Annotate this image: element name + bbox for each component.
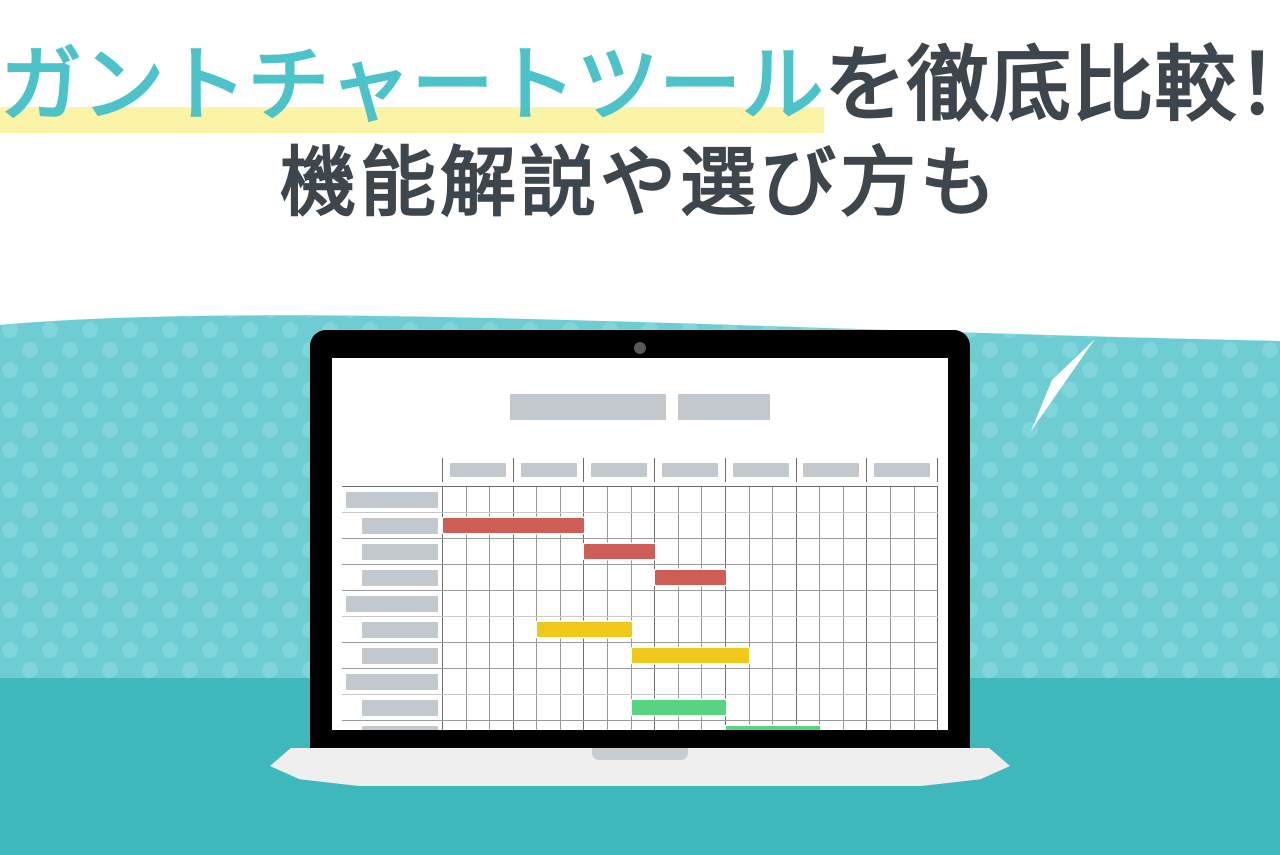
gantt-cell: [915, 721, 939, 730]
gantt-cell: [584, 565, 608, 590]
gantt-row-label: [342, 565, 442, 590]
gantt-bar[interactable]: [632, 648, 750, 663]
gantt-chart: [342, 458, 938, 730]
gantt-cell: [443, 565, 467, 590]
gantt-row-track: [442, 721, 938, 730]
gantt-cell: [490, 565, 514, 590]
gantt-cell: [632, 591, 656, 616]
gantt-row-label: [342, 617, 442, 642]
gantt-cell: [514, 695, 538, 720]
gantt-task-row[interactable]: [342, 721, 938, 730]
gantt-cell: [561, 643, 585, 668]
gantt-cell: [467, 643, 491, 668]
gantt-group-row[interactable]: [342, 669, 938, 695]
gantt-cell: [655, 539, 679, 564]
headline-highlight: ガントチャートツール: [0, 40, 824, 133]
laptop-screen: [332, 358, 948, 730]
gantt-cell: [750, 487, 774, 512]
gantt-cell: [679, 617, 703, 642]
laptop-lid: [310, 330, 970, 752]
gantt-cell: [537, 487, 561, 512]
gantt-row-label-chip-group-1: [346, 492, 438, 508]
gantt-group-row[interactable]: [342, 487, 938, 513]
gantt-cell: [702, 591, 726, 616]
gantt-cell: [443, 617, 467, 642]
gantt-cell: [891, 669, 915, 694]
gantt-cell: [867, 643, 891, 668]
gantt-cell: [702, 721, 726, 730]
gantt-cell: [490, 695, 514, 720]
gantt-cell: [750, 539, 774, 564]
gantt-cell: [584, 487, 608, 512]
headline: ガントチャートツールを徹底比較！ 機能解説や選び方も: [0, 38, 1280, 229]
gantt-bar[interactable]: [537, 622, 631, 637]
gantt-cell: [702, 513, 726, 538]
gantt-cell: [773, 539, 797, 564]
gantt-cell: [608, 721, 632, 730]
gantt-header-chip-period-7: [874, 463, 930, 477]
gantt-row-track: [442, 539, 938, 564]
gantt-cell: [561, 721, 585, 730]
gantt-cell: [561, 539, 585, 564]
gantt-cell: [467, 565, 491, 590]
gantt-cell: [797, 669, 821, 694]
gantt-header-cell: [797, 458, 868, 482]
gantt-cell: [443, 695, 467, 720]
gantt-header-chip-period-3: [591, 463, 647, 477]
gantt-cell: [750, 591, 774, 616]
gantt-task-row[interactable]: [342, 695, 938, 721]
gantt-cell: [820, 591, 844, 616]
gantt-cell: [820, 669, 844, 694]
gantt-cell: [773, 695, 797, 720]
gantt-cell: [467, 617, 491, 642]
gantt-cell: [726, 591, 750, 616]
gantt-cell: [514, 591, 538, 616]
gantt-cell: [844, 643, 868, 668]
gantt-row-label-chip-group-3: [346, 674, 438, 690]
gantt-header-cell: [514, 458, 585, 482]
gantt-cell: [655, 591, 679, 616]
gantt-cell: [820, 617, 844, 642]
gantt-cell: [467, 695, 491, 720]
gantt-cell: [561, 487, 585, 512]
gantt-cell: [702, 539, 726, 564]
gantt-cell: [608, 591, 632, 616]
gantt-cell: [632, 669, 656, 694]
gantt-cell: [891, 643, 915, 668]
gantt-cell: [820, 487, 844, 512]
gantt-cell: [891, 565, 915, 590]
gantt-row-label: [342, 591, 442, 616]
gantt-row-label: [342, 695, 442, 720]
gantt-cell: [490, 591, 514, 616]
gantt-cell: [891, 591, 915, 616]
gantt-cell: [773, 487, 797, 512]
gantt-row-label-chip-task-1-3: [362, 570, 438, 586]
gantt-cell: [443, 643, 467, 668]
gantt-cell: [702, 617, 726, 642]
gantt-header: [342, 458, 938, 486]
gantt-cell: [655, 721, 679, 730]
gantt-cell: [915, 617, 939, 642]
gantt-cell: [915, 591, 939, 616]
gantt-cell: [490, 669, 514, 694]
gantt-cell: [584, 721, 608, 730]
gantt-header-chip-period-6: [803, 463, 859, 477]
gantt-header-chip-period-4: [662, 463, 718, 477]
gantt-row-label: [342, 487, 442, 512]
gantt-header-cell: [655, 458, 726, 482]
gantt-cell: [679, 721, 703, 730]
gantt-cell: [915, 643, 939, 668]
gantt-row-track: [442, 669, 938, 694]
gantt-cell: [915, 513, 939, 538]
gantt-cell: [537, 643, 561, 668]
gantt-cell: [726, 669, 750, 694]
gantt-cell: [773, 591, 797, 616]
gantt-row-label: [342, 643, 442, 668]
gantt-rows: [342, 486, 938, 730]
gantt-cell: [584, 513, 608, 538]
gantt-cell: [915, 565, 939, 590]
gantt-cell: [443, 539, 467, 564]
gantt-cell: [867, 669, 891, 694]
gantt-cell: [561, 565, 585, 590]
gantt-cell: [655, 487, 679, 512]
headline-line-1-rest: を徹底比較！: [824, 40, 1280, 131]
gantt-cell: [915, 695, 939, 720]
title-placeholder: [510, 394, 666, 420]
gantt-cell: [490, 617, 514, 642]
gantt-cell: [514, 643, 538, 668]
gantt-row-track: [442, 591, 938, 616]
gantt-cell: [679, 513, 703, 538]
gantt-cell: [443, 669, 467, 694]
gantt-header-cell: [726, 458, 797, 482]
gantt-cell: [773, 669, 797, 694]
gantt-cell: [867, 487, 891, 512]
gantt-cell: [608, 487, 632, 512]
gantt-cell: [844, 513, 868, 538]
gantt-cell: [867, 565, 891, 590]
gantt-cell: [867, 695, 891, 720]
gantt-cell: [632, 513, 656, 538]
gantt-cell: [514, 721, 538, 730]
gantt-cell: [467, 591, 491, 616]
headline-line-2: 機能解説や選び方も: [0, 139, 1280, 229]
gantt-cell: [726, 695, 750, 720]
gantt-header-cell: [443, 458, 514, 482]
gantt-cell: [490, 539, 514, 564]
gantt-cell: [608, 669, 632, 694]
gantt-cell: [844, 669, 868, 694]
gantt-cell: [537, 591, 561, 616]
gantt-cell: [702, 669, 726, 694]
gantt-cell: [820, 643, 844, 668]
screen-header-placeholders: [332, 394, 948, 420]
subtitle-placeholder: [678, 394, 770, 420]
gantt-task-row[interactable]: [342, 643, 938, 669]
gantt-cell: [844, 539, 868, 564]
gantt-cell: [844, 487, 868, 512]
gantt-cell: [655, 513, 679, 538]
gantt-bar[interactable]: [655, 570, 726, 585]
gantt-cell: [844, 695, 868, 720]
laptop-base-notch: [592, 748, 688, 760]
gantt-cell: [702, 487, 726, 512]
gantt-task-row[interactable]: [342, 617, 938, 643]
gantt-cell: [679, 539, 703, 564]
gantt-cell: [797, 539, 821, 564]
gantt-row-track: [442, 643, 938, 668]
gantt-cell: [584, 695, 608, 720]
gantt-cell: [797, 591, 821, 616]
gantt-cell: [820, 513, 844, 538]
gantt-cell: [867, 721, 891, 730]
gantt-cell: [443, 487, 467, 512]
gantt-cell: [490, 643, 514, 668]
gantt-cell: [726, 487, 750, 512]
gantt-cell: [867, 539, 891, 564]
gantt-row-label: [342, 513, 442, 538]
gantt-cell: [679, 591, 703, 616]
gantt-cell: [514, 539, 538, 564]
gantt-cell: [537, 669, 561, 694]
gantt-cell: [584, 643, 608, 668]
gantt-cell: [561, 695, 585, 720]
gantt-task-row[interactable]: [342, 539, 938, 565]
gantt-cell: [797, 565, 821, 590]
gantt-row-label-chip-group-2: [346, 596, 438, 612]
gantt-bar[interactable]: [584, 544, 655, 559]
gantt-group-row[interactable]: [342, 591, 938, 617]
gantt-header-cell: [867, 458, 938, 482]
gantt-cell: [608, 565, 632, 590]
gantt-cell: [584, 669, 608, 694]
gantt-cell: [443, 721, 467, 730]
gantt-cell: [844, 721, 868, 730]
gantt-cell: [750, 565, 774, 590]
gantt-cell: [467, 487, 491, 512]
gantt-cell: [750, 617, 774, 642]
gantt-header-cell: [584, 458, 655, 482]
gantt-task-row[interactable]: [342, 513, 938, 539]
gantt-cell: [867, 591, 891, 616]
gantt-cell: [915, 539, 939, 564]
gantt-cell: [726, 565, 750, 590]
gantt-cell: [797, 617, 821, 642]
headline-line-1: ガントチャートツールを徹底比較！: [0, 38, 1280, 133]
gantt-cell: [514, 669, 538, 694]
gantt-cell: [490, 487, 514, 512]
gantt-header-chip-period-1: [450, 463, 506, 477]
gantt-cell: [820, 565, 844, 590]
gantt-cell: [750, 695, 774, 720]
gantt-cell: [537, 565, 561, 590]
gantt-cell: [750, 643, 774, 668]
gantt-cell: [726, 513, 750, 538]
gantt-cell: [915, 669, 939, 694]
gantt-cell: [797, 513, 821, 538]
gantt-row-label-chip-task-1-2: [362, 544, 438, 560]
laptop-mockup: [310, 330, 970, 760]
gantt-cell: [750, 513, 774, 538]
gantt-cell: [561, 669, 585, 694]
gantt-cell: [467, 721, 491, 730]
gantt-cell: [514, 565, 538, 590]
gantt-row-label: [342, 669, 442, 694]
gantt-cell: [655, 617, 679, 642]
gantt-cell: [891, 721, 915, 730]
gantt-cell: [820, 539, 844, 564]
gantt-cell: [750, 669, 774, 694]
gantt-cell: [514, 487, 538, 512]
gantt-cell: [537, 695, 561, 720]
gantt-row-label-chip-task-3-1: [362, 700, 438, 716]
gantt-row-track: [442, 695, 938, 720]
gantt-cell: [797, 487, 821, 512]
gantt-cell: [891, 539, 915, 564]
gantt-cell: [797, 643, 821, 668]
gantt-row-label-chip-task-2-1: [362, 622, 438, 638]
gantt-row-track: [442, 487, 938, 512]
gantt-cell: [726, 539, 750, 564]
gantt-cell: [467, 539, 491, 564]
gantt-cell: [608, 695, 632, 720]
gantt-cell: [844, 617, 868, 642]
gantt-header-chip-period-2: [521, 463, 577, 477]
gantt-cell: [561, 591, 585, 616]
gantt-cell: [679, 487, 703, 512]
gantt-task-row[interactable]: [342, 565, 938, 591]
gantt-cell: [891, 617, 915, 642]
gantt-cell: [844, 565, 868, 590]
gantt-cell: [773, 513, 797, 538]
gantt-cell: [655, 669, 679, 694]
gantt-bar[interactable]: [443, 518, 584, 533]
gantt-cell: [632, 721, 656, 730]
gantt-cell: [820, 695, 844, 720]
gantt-row-track: [442, 617, 938, 642]
gantt-cell: [773, 617, 797, 642]
gantt-row-label-chip-task-2-2: [362, 648, 438, 664]
gantt-cell: [867, 617, 891, 642]
gantt-cell: [443, 591, 467, 616]
gantt-cell: [726, 617, 750, 642]
gantt-cell: [915, 487, 939, 512]
gantt-cell: [867, 513, 891, 538]
gantt-row-track: [442, 565, 938, 590]
gantt-cell: [891, 513, 915, 538]
gantt-header-chip-period-5: [733, 463, 789, 477]
gantt-cell: [844, 591, 868, 616]
banner-stage: ガントチャートツールを徹底比較！ 機能解説や選び方も: [0, 0, 1280, 855]
gantt-row-label: [342, 721, 442, 730]
gantt-cell: [608, 643, 632, 668]
gantt-bar[interactable]: [726, 726, 820, 730]
gantt-cell: [584, 591, 608, 616]
gantt-bar[interactable]: [632, 700, 726, 715]
gantt-cell: [891, 487, 915, 512]
gantt-cell: [632, 565, 656, 590]
gantt-cell: [490, 721, 514, 730]
gantt-cell: [820, 721, 844, 730]
webcam-icon: [634, 342, 646, 354]
gantt-cell: [608, 513, 632, 538]
gantt-cell: [632, 487, 656, 512]
gantt-column-headers: [442, 458, 938, 482]
gantt-cell: [679, 669, 703, 694]
gantt-row-label: [342, 539, 442, 564]
gantt-cell: [537, 721, 561, 730]
gantt-cell: [773, 643, 797, 668]
gantt-cell: [891, 695, 915, 720]
gantt-row-label-chip-task-3-2: [362, 726, 438, 731]
gantt-row-label-chip-task-1-1: [362, 518, 438, 534]
gantt-cell: [773, 565, 797, 590]
gantt-cell: [467, 669, 491, 694]
gantt-row-track: [442, 513, 938, 538]
gantt-cell: [797, 695, 821, 720]
gantt-cell: [537, 539, 561, 564]
gantt-cell: [632, 617, 656, 642]
gantt-cell: [514, 617, 538, 642]
